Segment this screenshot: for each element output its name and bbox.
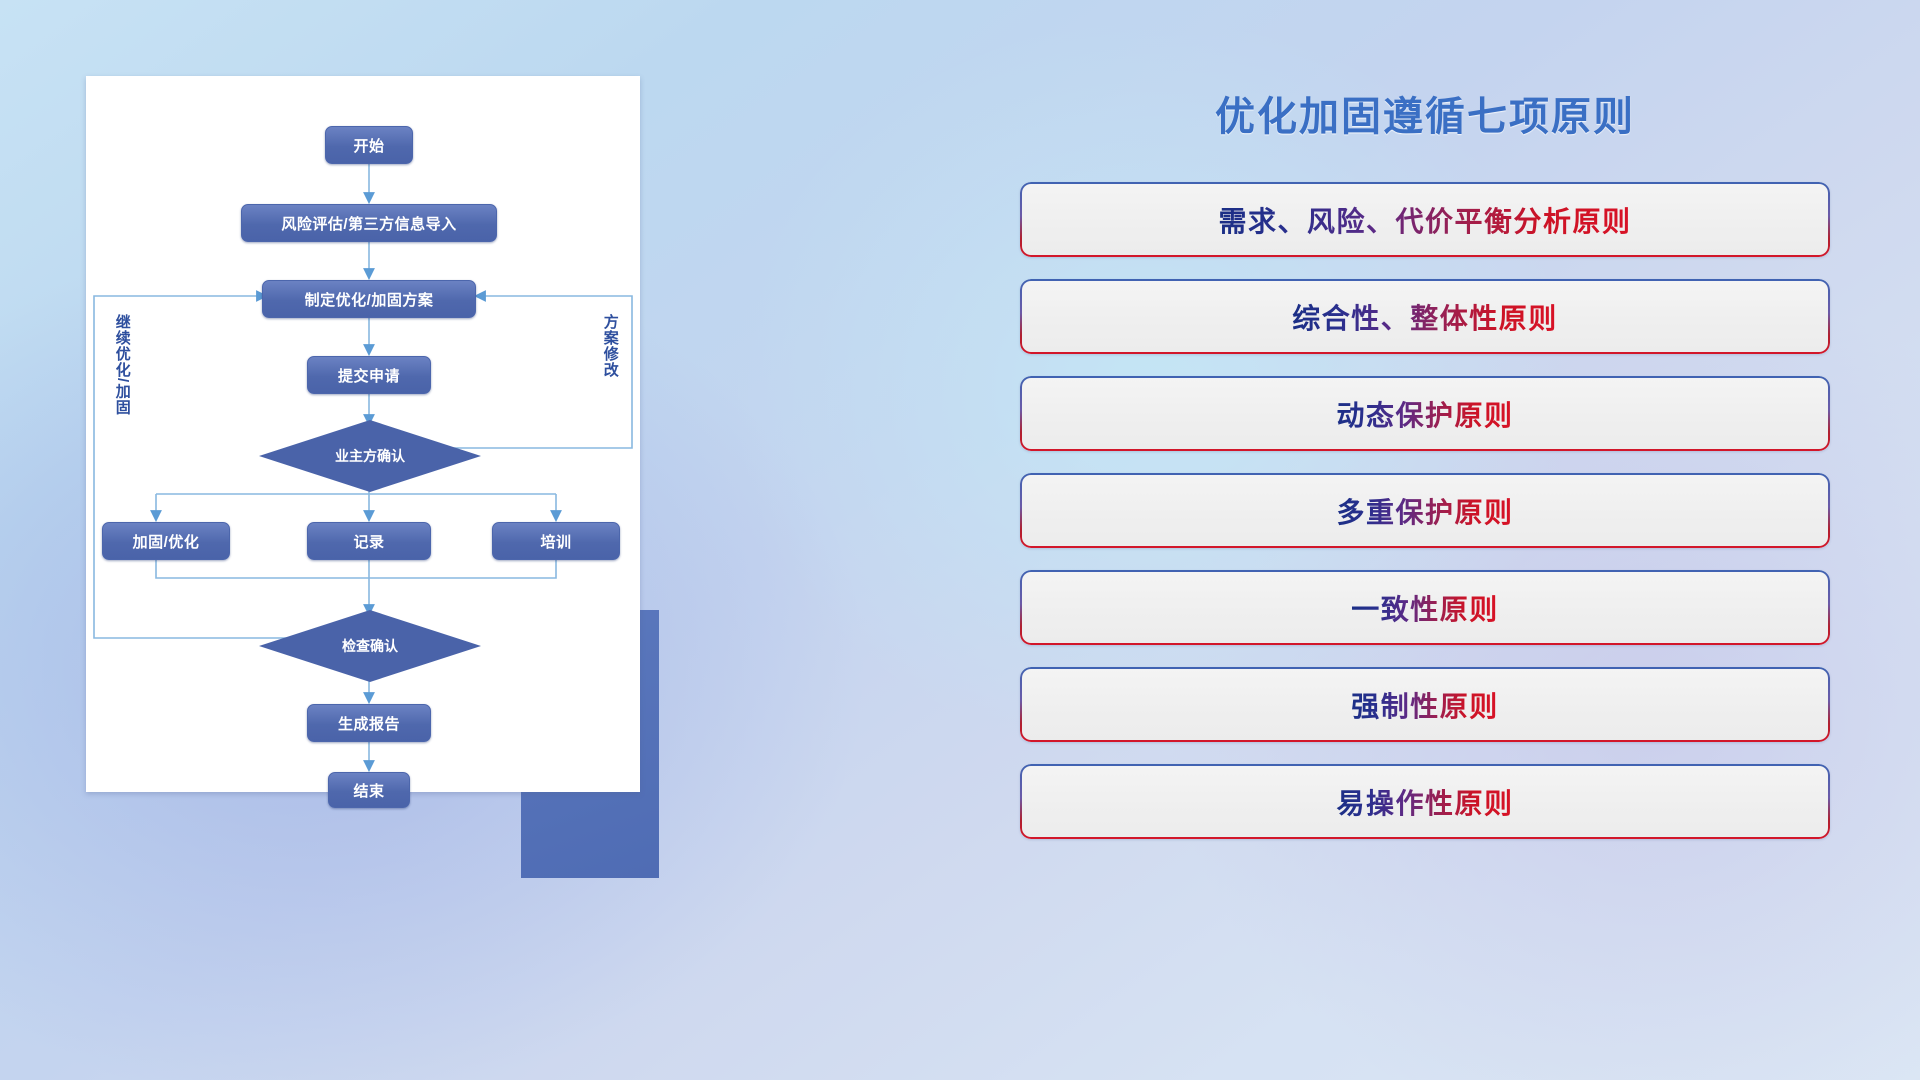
flow-node-generate-report[interactable]: 生成报告 bbox=[307, 704, 431, 742]
flow-node-reinforce-label: 加固/优化 bbox=[133, 531, 200, 552]
principle-item-3[interactable]: 动态保护原则 bbox=[1020, 376, 1830, 451]
flow-node-training[interactable]: 培训 bbox=[492, 522, 620, 560]
principles-panel: 优化加固遵循七项原则 需求、风险、代价平衡分析原则 综合性、整体性原则 动态保护… bbox=[1020, 84, 1830, 1024]
flow-node-generate-report-label: 生成报告 bbox=[338, 713, 400, 734]
flow-node-plan[interactable]: 制定优化/加固方案 bbox=[262, 280, 476, 318]
principle-item-2-label: 综合性、整体性原则 bbox=[1292, 297, 1558, 337]
flowchart-card: 开始 风险评估/第三方信息导入 制定优化/加固方案 提交申请 业主方确认 加固/… bbox=[86, 76, 640, 792]
principle-list: 需求、风险、代价平衡分析原则 综合性、整体性原则 动态保护原则 多重保护原则 一… bbox=[1020, 182, 1830, 839]
flow-node-owner-confirm-label: 业主方确认 bbox=[335, 446, 405, 466]
flow-node-risk-assessment[interactable]: 风险评估/第三方信息导入 bbox=[241, 204, 497, 242]
flow-node-submit-application-label: 提交申请 bbox=[338, 365, 400, 386]
flow-node-reinforce[interactable]: 加固/优化 bbox=[102, 522, 230, 560]
flow-node-record[interactable]: 记录 bbox=[307, 522, 431, 560]
principle-item-6-label: 强制性原则 bbox=[1351, 685, 1499, 725]
principle-item-1-label: 需求、风险、代价平衡分析原则 bbox=[1218, 200, 1631, 240]
flowchart-panel: 开始 风险评估/第三方信息导入 制定优化/加固方案 提交申请 业主方确认 加固/… bbox=[86, 76, 658, 792]
principle-item-1[interactable]: 需求、风险、代价平衡分析原则 bbox=[1020, 182, 1830, 257]
flow-edge-label-left-loop: 继续优化/加固 bbox=[114, 314, 130, 434]
flow-node-start-label: 开始 bbox=[353, 135, 384, 156]
principle-item-5[interactable]: 一致性原则 bbox=[1020, 570, 1830, 645]
flow-edge-label-right-loop: 方案修改 bbox=[602, 314, 618, 409]
flow-node-plan-label: 制定优化/加固方案 bbox=[305, 289, 434, 310]
flow-node-check-confirm-label: 检查确认 bbox=[342, 636, 398, 656]
flow-node-training-label: 培训 bbox=[540, 531, 571, 552]
principle-item-6[interactable]: 强制性原则 bbox=[1020, 667, 1830, 742]
principle-item-2[interactable]: 综合性、整体性原则 bbox=[1020, 279, 1830, 354]
flow-node-risk-assessment-label: 风险评估/第三方信息导入 bbox=[281, 213, 456, 234]
flow-node-start[interactable]: 开始 bbox=[325, 126, 413, 164]
principle-item-5-label: 一致性原则 bbox=[1351, 588, 1499, 628]
principle-item-4-label: 多重保护原则 bbox=[1336, 491, 1513, 531]
principle-item-7-label: 易操作性原则 bbox=[1336, 782, 1513, 822]
principle-item-7[interactable]: 易操作性原则 bbox=[1020, 764, 1830, 839]
principle-item-4[interactable]: 多重保护原则 bbox=[1020, 473, 1830, 548]
flow-node-submit-application[interactable]: 提交申请 bbox=[307, 356, 431, 394]
flow-node-end[interactable]: 结束 bbox=[328, 772, 410, 808]
flow-node-end-label: 结束 bbox=[353, 780, 384, 801]
flow-node-record-label: 记录 bbox=[353, 531, 384, 552]
principle-item-3-label: 动态保护原则 bbox=[1336, 394, 1513, 434]
panel-title: 优化加固遵循七项原则 bbox=[1020, 84, 1830, 142]
